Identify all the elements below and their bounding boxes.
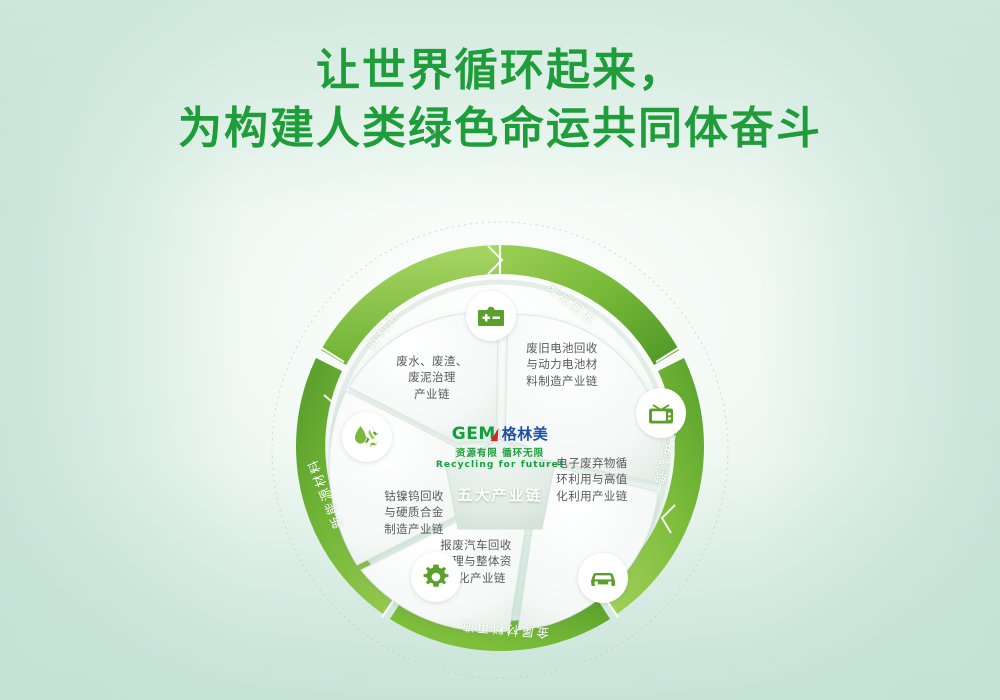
gear-icon (422, 563, 450, 591)
page-title: 让世界循环起来， 为构建人类绿色命运共同体奋斗 (0, 42, 1000, 158)
water-recycle-icon-bubble (342, 412, 392, 462)
battery-icon (477, 303, 505, 329)
car-icon (588, 566, 618, 590)
poster-canvas: 让世界循环起来， 为构建人类绿色命运共同体奋斗 (0, 0, 1000, 700)
water-recycle-icon (352, 423, 382, 451)
headline-line-1: 让世界循环起来， (0, 42, 1000, 100)
five-industry-chain-diagram: 废旧电池回收 与动力电池材 料制造产业链 电子废弃物循 环利用与高值 化利用产业… (250, 215, 750, 685)
battery-icon-bubble (466, 291, 516, 341)
tv-icon (647, 400, 675, 426)
headline-line-2: 为构建人类绿色命运共同体奋斗 (0, 100, 1000, 158)
gear-icon-bubble (411, 552, 461, 602)
diagram-svg (250, 215, 750, 685)
tv-icon-bubble (636, 388, 686, 438)
car-icon-bubble (578, 553, 628, 603)
